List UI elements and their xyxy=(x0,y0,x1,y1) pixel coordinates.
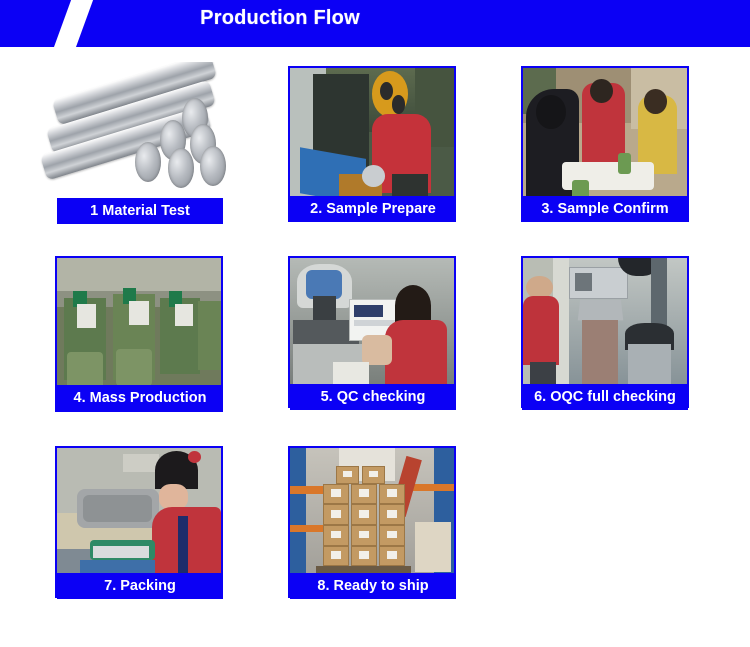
flow-step-1[interactable] xyxy=(40,62,240,197)
step-1-label: 1 Material Test xyxy=(57,198,223,224)
page-header: Production Flow xyxy=(0,0,750,47)
step-6-label: 6. OQC full checking xyxy=(522,384,688,410)
page-title: Production Flow xyxy=(0,7,560,30)
step-4-label: 4. Mass Production xyxy=(57,385,223,411)
step-5-label: 5. QC checking xyxy=(290,384,456,410)
step-8-label: 8. Ready to ship xyxy=(290,573,456,599)
step-3-label: 3. Sample Confirm xyxy=(522,196,688,222)
step-2-label: 2. Sample Prepare xyxy=(290,196,456,222)
step-7-label: 7. Packing xyxy=(57,573,223,599)
step-1-image xyxy=(40,62,240,197)
